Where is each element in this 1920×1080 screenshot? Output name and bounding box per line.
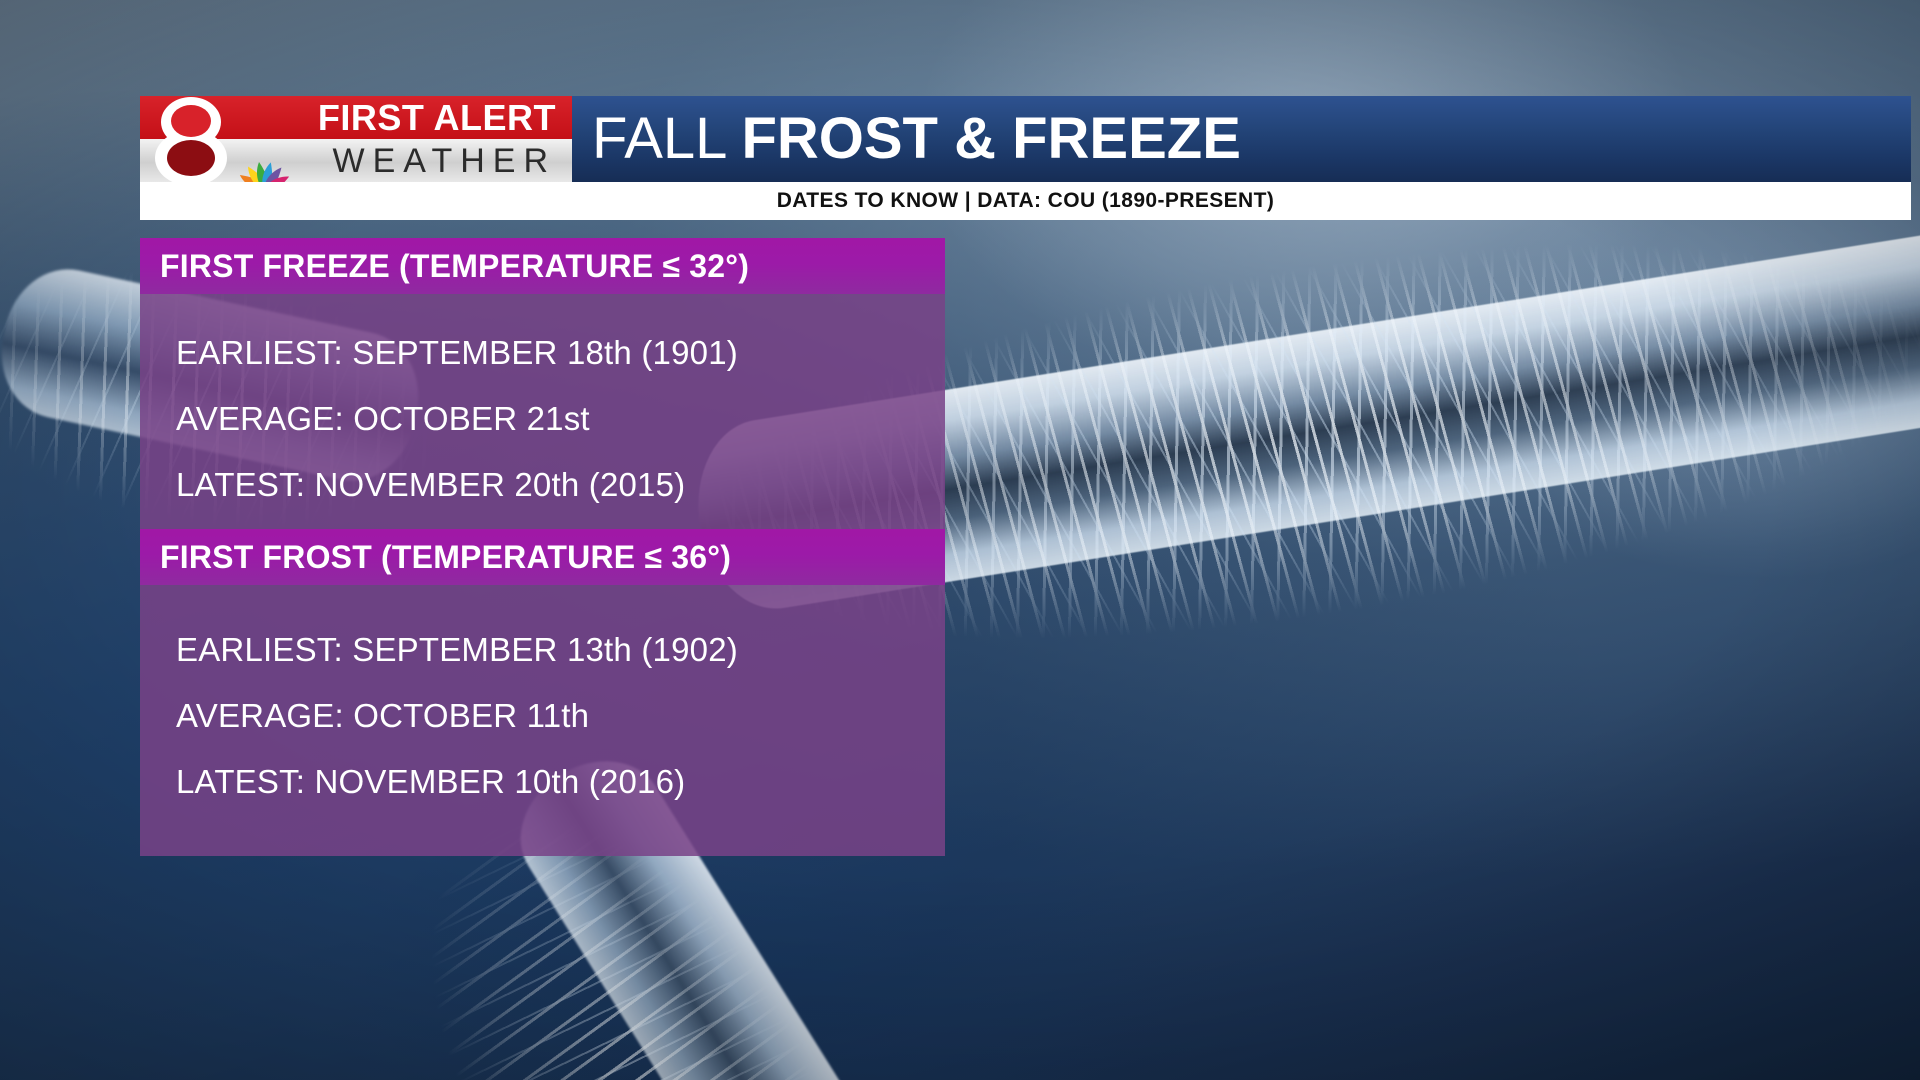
first-alert-label: FIRST ALERT <box>318 100 556 136</box>
nbc-peacock-icon <box>218 140 310 182</box>
list-item: EARLIEST: SEPTEMBER 18th (1901) <box>140 336 945 369</box>
weather-graphic: FIRST ALERT WEATHER FALL FROST & FREEZE … <box>0 0 1920 1080</box>
weather-label: WEATHER <box>333 144 556 178</box>
subtitle-bar: DATES TO KNOW | DATA: COU (1890-PRESENT) <box>140 182 1911 220</box>
list-item: AVERAGE: OCTOBER 21st <box>140 402 945 435</box>
data-panel: FIRST FREEZE (TEMPERATURE ≤ 32°) EARLIES… <box>140 238 945 856</box>
section-header-label: FIRST FROST (TEMPERATURE ≤ 36°) <box>160 539 731 576</box>
section-header-first-freeze: FIRST FREEZE (TEMPERATURE ≤ 32°) <box>140 238 945 294</box>
list-item: EARLIEST: SEPTEMBER 13th (1902) <box>140 633 945 666</box>
section-header-first-frost: FIRST FROST (TEMPERATURE ≤ 36°) <box>140 529 945 585</box>
list-item: AVERAGE: OCTOBER 11th <box>140 699 945 732</box>
subtitle-text: DATES TO KNOW | DATA: COU (1890-PRESENT) <box>777 189 1275 213</box>
section-body-first-frost: EARLIEST: SEPTEMBER 13th (1902) AVERAGE:… <box>140 585 945 856</box>
headline-bar: FALL FROST & FREEZE <box>572 96 1911 182</box>
headline-bold: FROST & FREEZE <box>741 110 1240 168</box>
list-item: LATEST: NOVEMBER 20th (2015) <box>140 468 945 501</box>
headline-light: FALL <box>592 110 727 168</box>
title-bar: FIRST ALERT WEATHER FALL FROST & FREEZE <box>140 96 1911 182</box>
section-header-label: FIRST FREEZE (TEMPERATURE ≤ 32°) <box>160 248 749 285</box>
list-item: LATEST: NOVEMBER 10th (2016) <box>140 765 945 798</box>
section-body-first-freeze: EARLIEST: SEPTEMBER 18th (1901) AVERAGE:… <box>140 294 945 529</box>
station-logo-block: FIRST ALERT WEATHER <box>140 96 572 182</box>
